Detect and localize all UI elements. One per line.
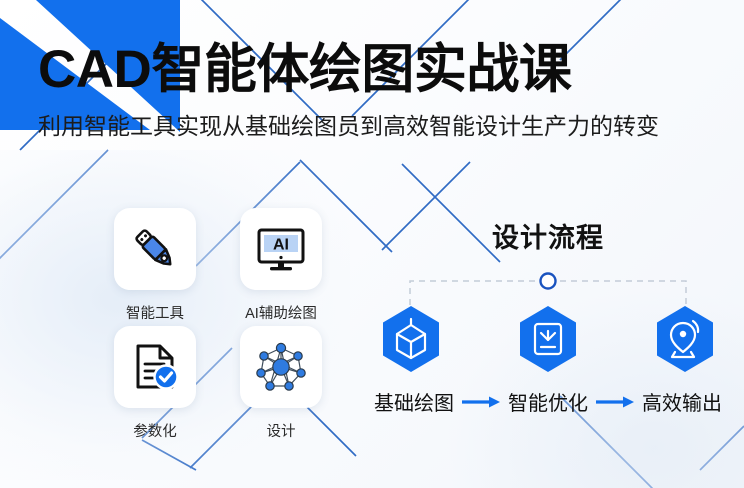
- feature-card: AI: [240, 208, 322, 290]
- feature-item-smart-tools[interactable]: 智能工具: [92, 208, 218, 326]
- feature-card: [240, 326, 322, 408]
- feature-card: [114, 208, 196, 290]
- arrow-right-icon-2: [595, 395, 635, 409]
- flow-step-icon-efficient-output[interactable]: [654, 305, 716, 373]
- svg-text:AI: AI: [273, 237, 289, 254]
- download-box-icon: [517, 305, 579, 373]
- feature-grid: 智能工具 AI AI辅助绘图: [92, 208, 344, 444]
- course-banner: CAD智能体绘图实战课 利用智能工具实现从基础绘图员到高效智能设计生产力的转变: [0, 0, 744, 488]
- feature-item-parametric[interactable]: 参数化: [92, 326, 218, 444]
- flow-title: 设计流程: [372, 216, 724, 255]
- cube-box-icon: [380, 305, 442, 373]
- feature-item-design[interactable]: 设计: [218, 326, 344, 444]
- feature-item-ai-drawing[interactable]: AI AI辅助绘图: [218, 208, 344, 326]
- flow-step-labels: 基础绘图 智能优化 高效输出: [372, 387, 724, 416]
- network-graph-icon: [253, 339, 309, 395]
- feature-card: [114, 326, 196, 408]
- flow-step-icon-smart-optimize[interactable]: [517, 305, 579, 373]
- flow-step-label-basic-drawing: 基础绘图: [374, 387, 454, 416]
- banner-header: CAD智能体绘图实战课 利用智能工具实现从基础绘图员到高效智能设计生产力的转变: [38, 42, 728, 140]
- location-pin-icon: [654, 305, 716, 373]
- arrow-right-icon-1: [461, 395, 501, 409]
- bracket-node-icon: [541, 274, 556, 289]
- feature-label: 设计: [267, 420, 296, 441]
- flow-bracket: [372, 269, 724, 309]
- document-check-icon: [128, 340, 182, 394]
- flow-step-label-smart-optimize: 智能优化: [508, 387, 588, 416]
- pen-tool-icon: [128, 222, 182, 276]
- feature-label: AI辅助绘图: [245, 302, 317, 323]
- feature-label: 智能工具: [126, 302, 184, 323]
- banner-title: CAD智能体绘图实战课: [38, 42, 728, 98]
- flow-step-icon-basic-drawing[interactable]: [380, 305, 442, 373]
- banner-subtitle: 利用智能工具实现从基础绘图员到高效智能设计生产力的转变: [38, 113, 728, 141]
- design-flow-section: 设计流程: [372, 216, 724, 416]
- bracket-connector-icon: [372, 269, 724, 309]
- ai-monitor-icon: AI: [253, 221, 309, 277]
- flow-hexagon-row: [372, 305, 724, 373]
- flow-step-label-efficient-output: 高效输出: [642, 387, 722, 416]
- feature-label: 参数化: [133, 420, 177, 441]
